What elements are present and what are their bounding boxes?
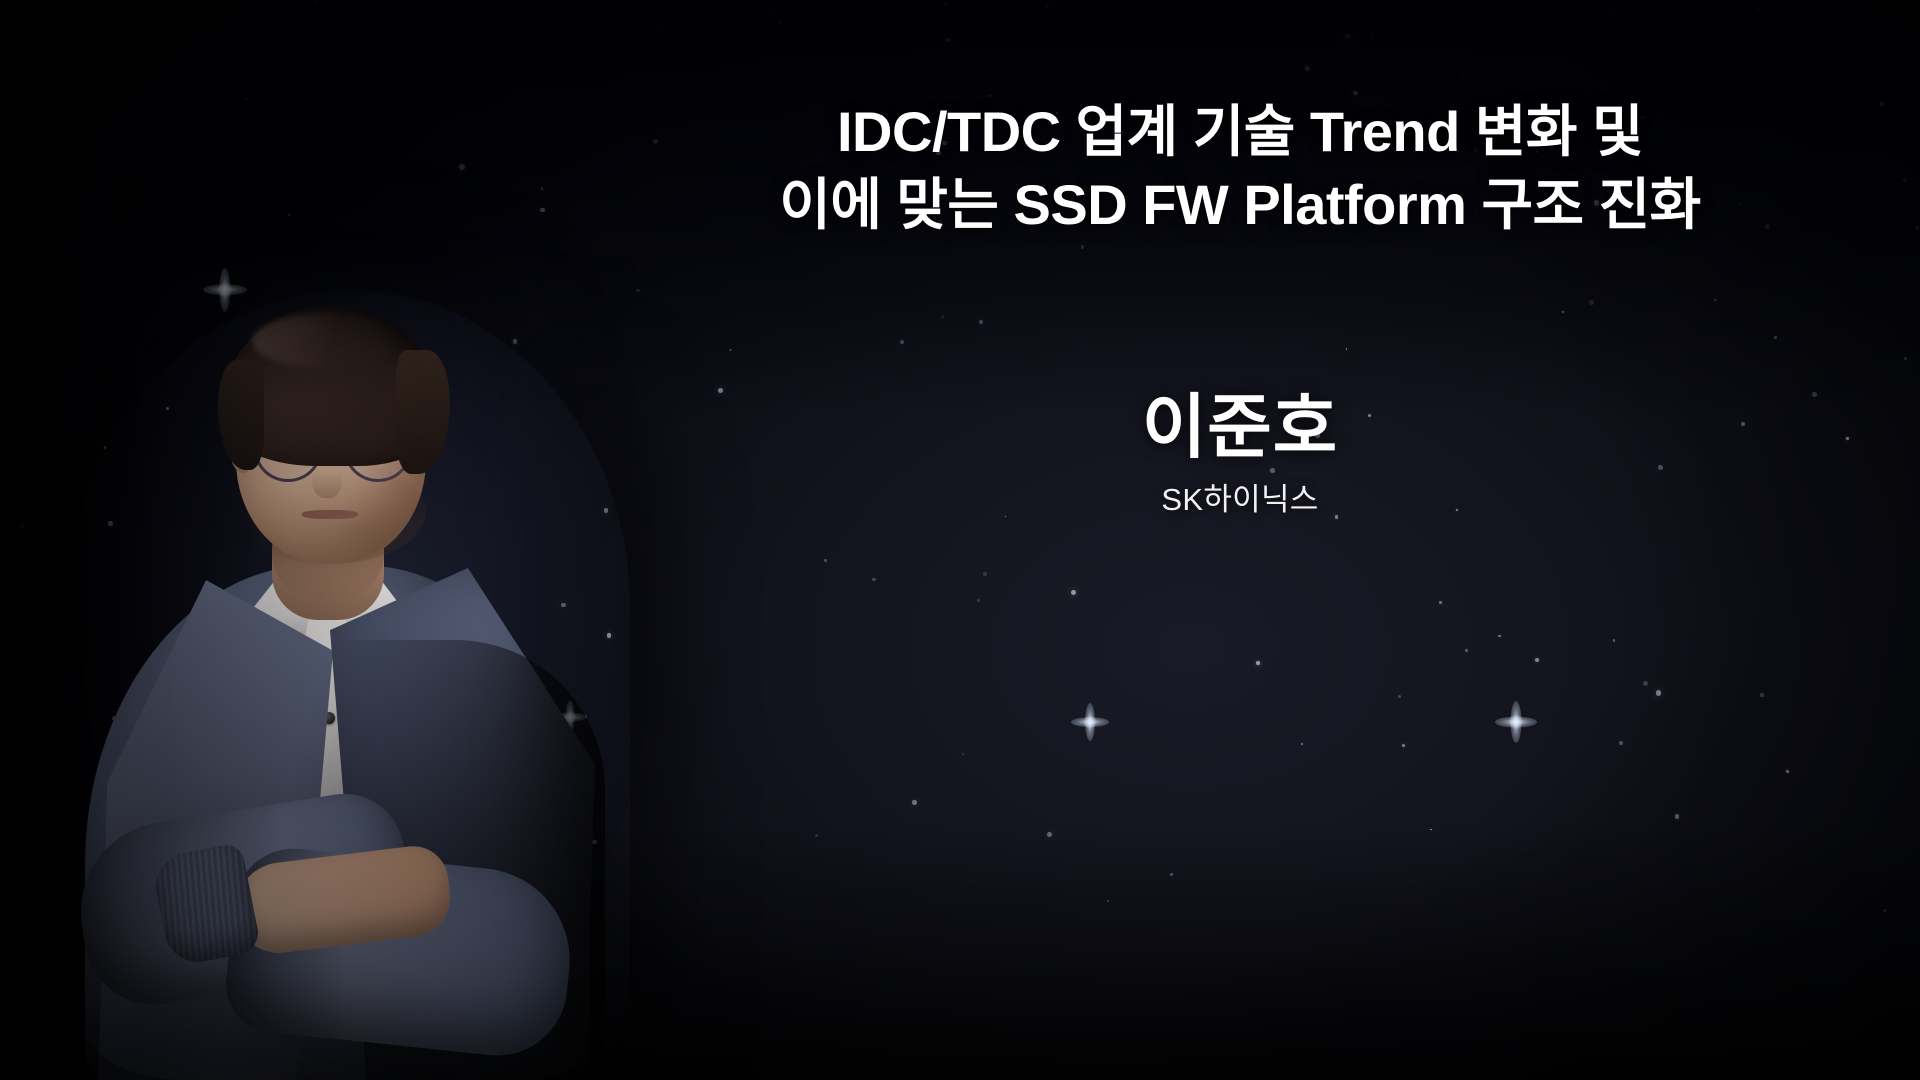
- person-figure: [40, 210, 660, 1080]
- title-line-1: IDC/TDC 업계 기술 Trend 변화 및: [640, 96, 1840, 169]
- speaker-affiliation: SK하이닉스: [640, 474, 1840, 519]
- hair-side-right: [396, 350, 450, 474]
- hair-side-left: [218, 360, 264, 470]
- hair-highlight: [252, 314, 402, 368]
- mouth: [302, 510, 358, 519]
- title-line-2: 이에 맞는 SSD FW Platform 구조 진화: [640, 169, 1840, 242]
- speaker-portrait: [40, 210, 660, 1080]
- slide-canvas: IDC/TDC 업계 기술 Trend 변화 및 이에 맞는 SSD FW Pl…: [0, 0, 1920, 1080]
- speaker-name: 이준호: [640, 390, 1840, 464]
- speaker-info: 이준호 SK하이닉스: [640, 390, 1840, 519]
- presentation-title: IDC/TDC 업계 기술 Trend 변화 및 이에 맞는 SSD FW Pl…: [640, 96, 1840, 242]
